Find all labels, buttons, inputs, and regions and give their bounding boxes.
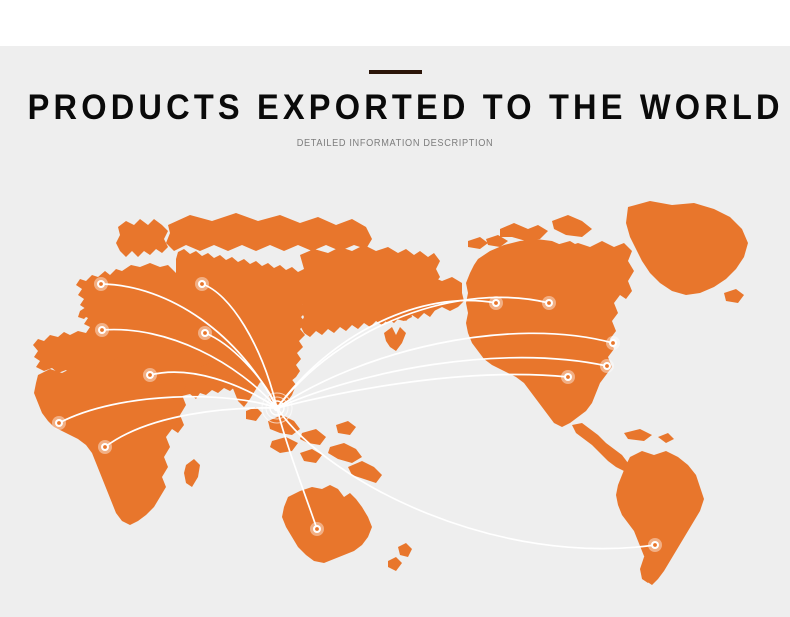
iceland-landmass bbox=[724, 289, 744, 303]
central-america-landmass bbox=[572, 423, 628, 471]
new-zealand-landmass bbox=[398, 543, 412, 557]
scandinavia-landmass bbox=[116, 219, 168, 257]
dest-dot-usa-west[interactable] bbox=[561, 370, 575, 384]
export-map-banner: PRODUCTS EXPORTED TO THE WORLD DETAILED … bbox=[0, 0, 790, 617]
title-divider-rule bbox=[369, 70, 422, 74]
australia-landmass bbox=[282, 485, 372, 563]
greenland-landmass bbox=[626, 201, 748, 295]
canadian-arctic-islands bbox=[468, 215, 592, 257]
dest-dot-mediterranean[interactable] bbox=[143, 368, 157, 382]
dest-dot-south-america[interactable] bbox=[648, 538, 662, 552]
dest-dot-great-lakes[interactable] bbox=[606, 336, 620, 350]
dest-dot-northern-europe[interactable] bbox=[94, 277, 108, 291]
dest-dot-central-africa[interactable] bbox=[98, 440, 112, 454]
dest-dot-australia[interactable] bbox=[310, 522, 324, 536]
dest-dot-alaska[interactable] bbox=[489, 296, 503, 310]
page-title: PRODUCTS EXPORTED TO THE WORLD bbox=[28, 90, 763, 125]
dest-dot-central-asia[interactable] bbox=[198, 326, 212, 340]
origin-hub-marker[interactable] bbox=[262, 393, 292, 423]
landmasses bbox=[33, 201, 748, 585]
dest-dot-north-asia[interactable] bbox=[195, 277, 209, 291]
papua-landmass bbox=[348, 461, 382, 483]
world-map-svg bbox=[0, 185, 790, 617]
new-zealand-south-landmass bbox=[388, 557, 402, 571]
caribbean-islands bbox=[624, 429, 674, 443]
western-europe-landmass bbox=[80, 331, 132, 365]
world-map-container bbox=[0, 185, 790, 617]
top-white-band bbox=[0, 0, 790, 46]
south-america-landmass bbox=[616, 451, 704, 585]
page-subtitle: DETAILED INFORMATION DESCRIPTION bbox=[32, 139, 759, 149]
dest-dot-western-europe[interactable] bbox=[95, 323, 109, 337]
madagascar-landmass bbox=[184, 459, 200, 487]
page-header: PRODUCTS EXPORTED TO THE WORLD DETAILED … bbox=[0, 46, 790, 149]
japan-landmass bbox=[384, 327, 406, 351]
north-eurasia-block bbox=[166, 213, 372, 251]
dest-dot-west-africa[interactable] bbox=[52, 416, 66, 430]
dest-dot-canada-west[interactable] bbox=[542, 296, 556, 310]
dest-dot-usa-midwest[interactable] bbox=[600, 359, 614, 373]
